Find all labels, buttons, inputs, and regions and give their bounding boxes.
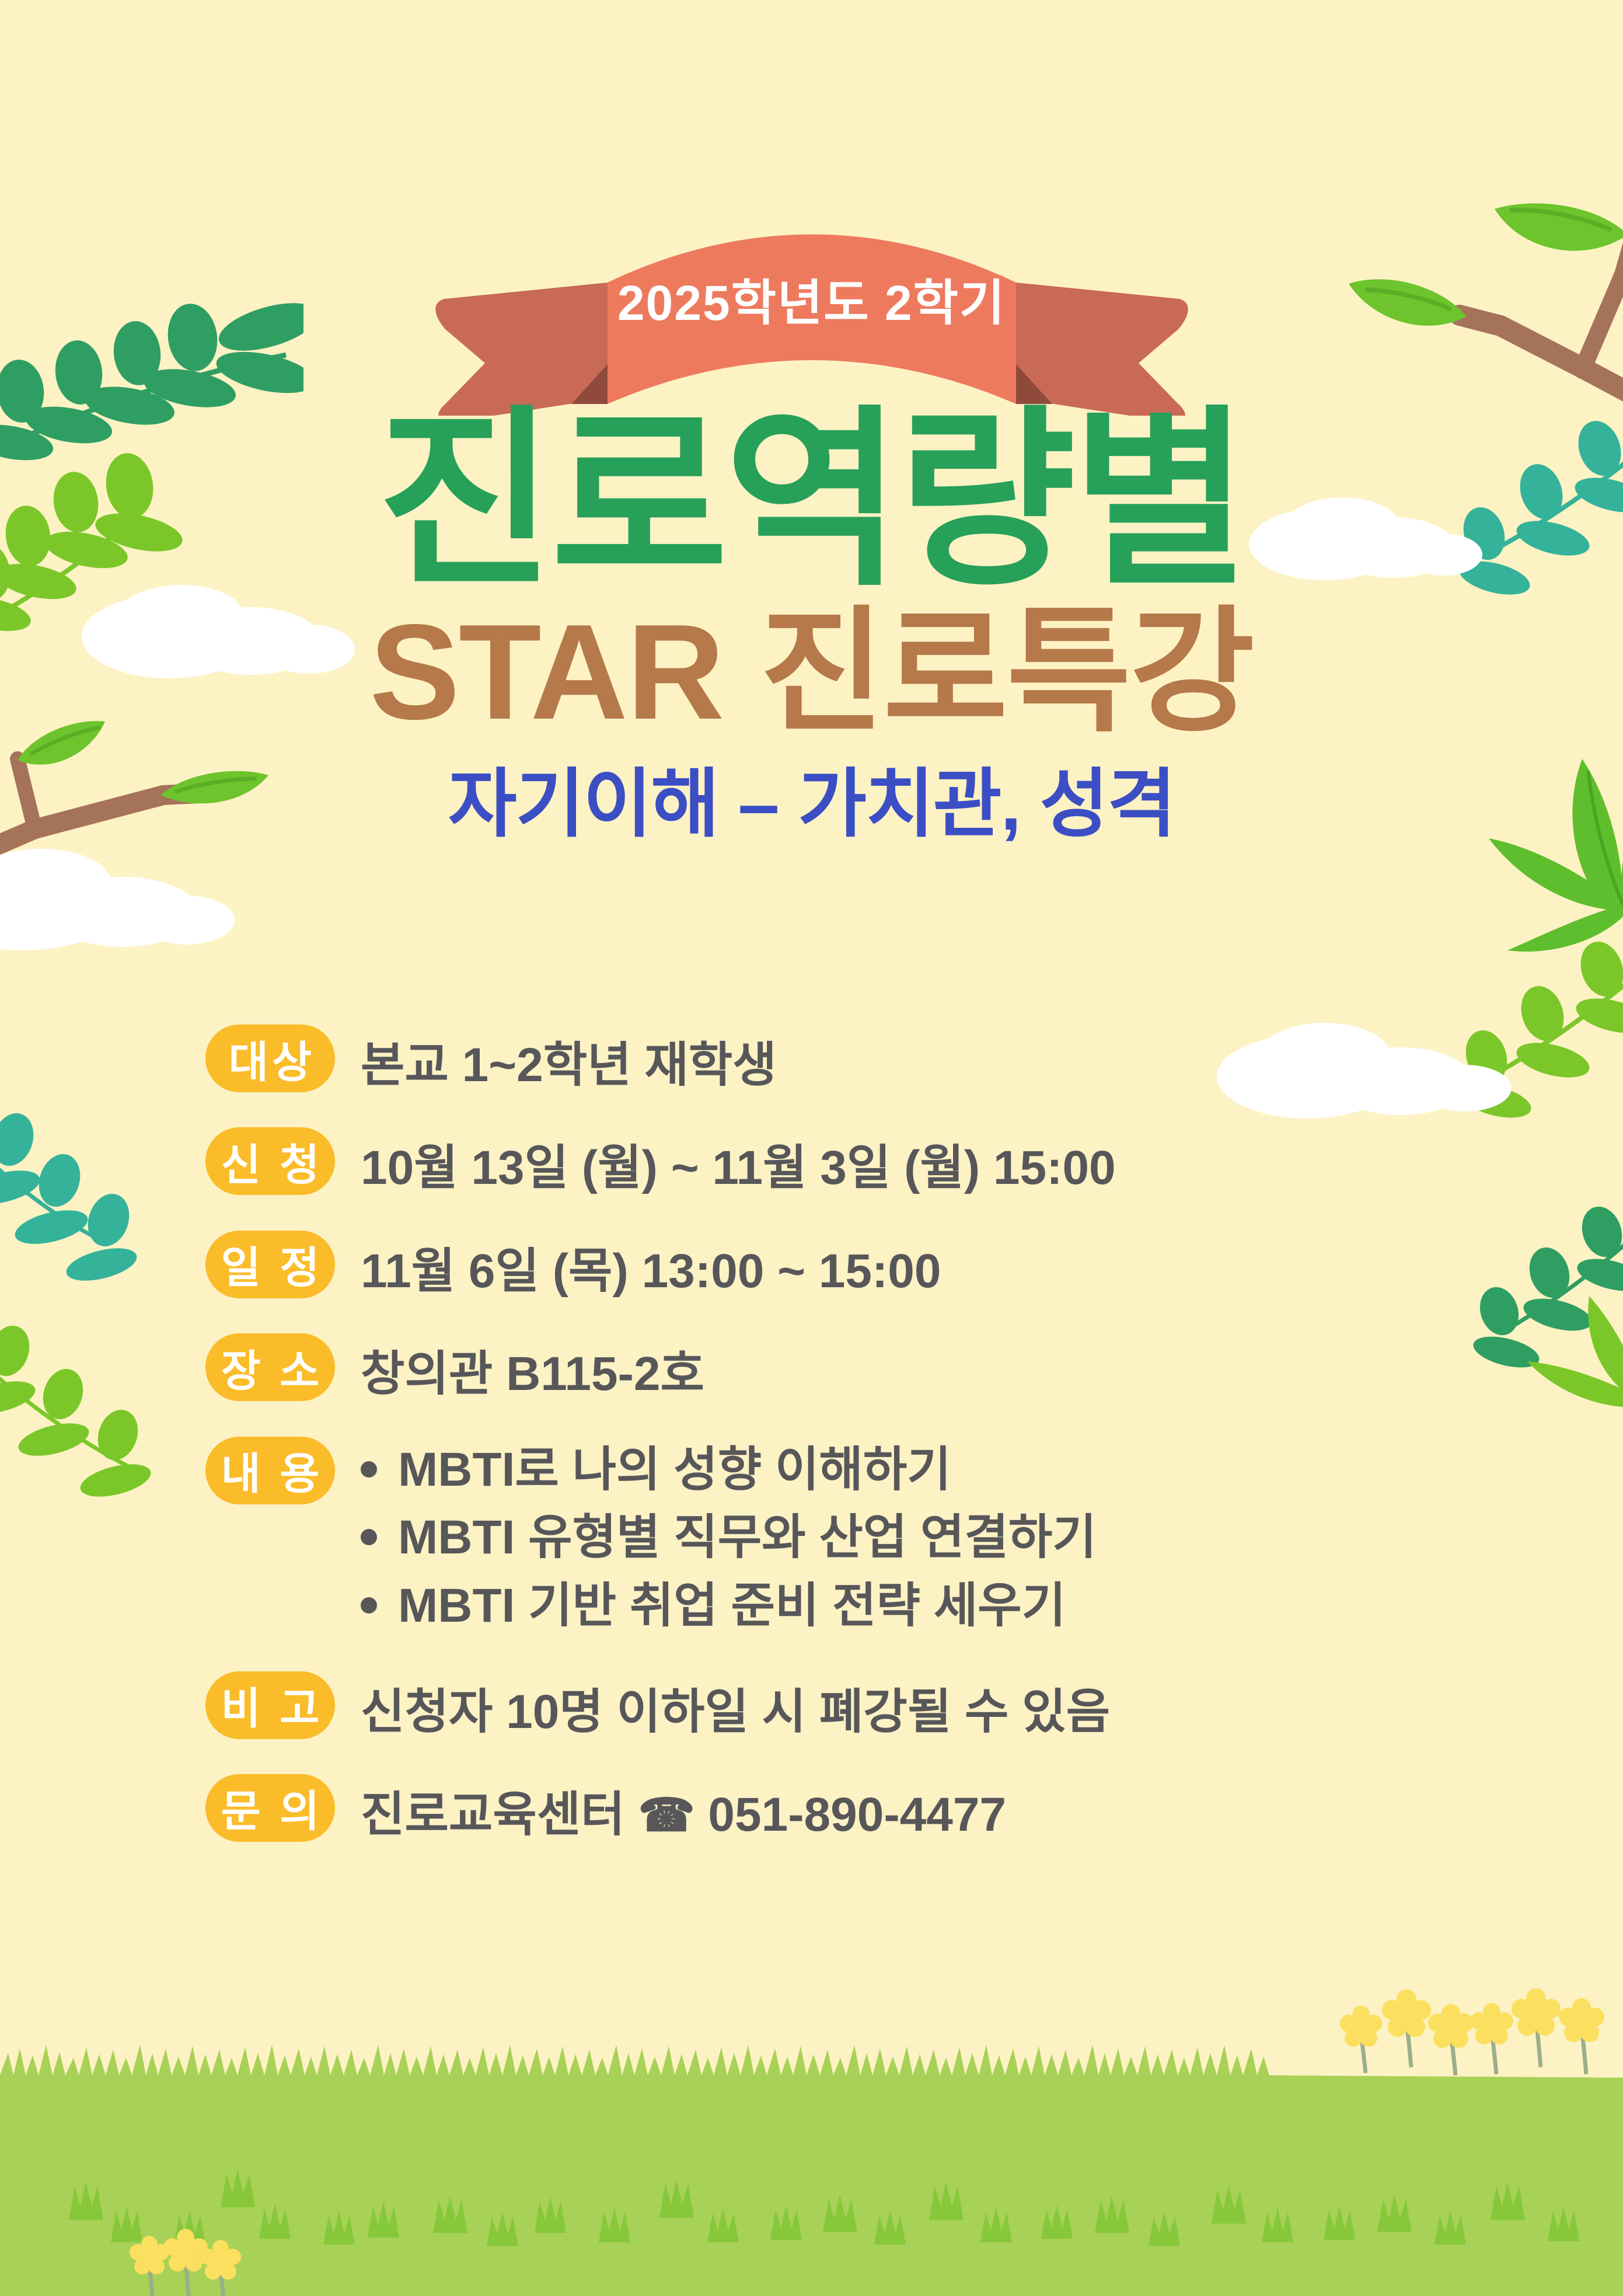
ribbon-label: 2025학년도 2학기 bbox=[617, 264, 1006, 335]
bullet-text: MBTI 유형별 직무와 산업 연결하기 bbox=[398, 1507, 1097, 1569]
label-remarks: 비 고 bbox=[205, 1671, 335, 1739]
contact-phone-number: 051-890-4477 bbox=[708, 1788, 1006, 1841]
lawn-body bbox=[0, 2045, 1623, 2296]
info-row-content: 내 용 MBTI로 나의 성향 이해하기 MBTI 유형별 직무와 산업 연결하… bbox=[205, 1437, 1535, 1643]
cloud-left-lower-icon bbox=[0, 835, 257, 963]
left-fern-teal-icon bbox=[0, 1092, 204, 1302]
title-line-3: 자기이해 – 가치관, 성격 bbox=[0, 767, 1623, 842]
info-row-application: 신 청 10월 13일 (월) ~ 11월 3일 (월) 15:00 bbox=[205, 1127, 1535, 1202]
title-line-2: STAR 진로특강 bbox=[0, 605, 1623, 740]
bullet-text: MBTI로 나의 성향 이해하기 bbox=[398, 1439, 951, 1501]
list-item: MBTI 유형별 직무와 산업 연결하기 bbox=[361, 1507, 1097, 1569]
grass-ground bbox=[0, 1946, 1623, 2296]
label-contact: 문 의 bbox=[205, 1774, 335, 1842]
value-application: 10월 13일 (월) ~ 11월 3일 (월) 15:00 bbox=[361, 1127, 1116, 1202]
contact-office: 진로교육센터 bbox=[361, 1788, 625, 1841]
value-remarks: 신청자 10명 이하일 시 폐강될 수 있음 bbox=[361, 1671, 1110, 1746]
flower-cluster-left bbox=[130, 2229, 241, 2296]
label-location: 장 소 bbox=[205, 1333, 335, 1401]
grass-tufts bbox=[69, 2169, 1579, 2246]
content-bullet-list: MBTI로 나의 성향 이해하기 MBTI 유형별 직무와 산업 연결하기 MB… bbox=[361, 1437, 1097, 1643]
info-table: 대상 본교 1~2학년 재학생 신 청 10월 13일 (월) ~ 11월 3일… bbox=[205, 1025, 1535, 1877]
value-target: 본교 1~2학년 재학생 bbox=[361, 1025, 777, 1099]
bullet-dot-icon bbox=[361, 1597, 377, 1614]
list-item: MBTI 기반 취업 준비 전략 세우기 bbox=[361, 1575, 1097, 1637]
telephone-icon: ☎ bbox=[638, 1789, 694, 1841]
value-schedule: 11월 6일 (목) 13:00 ~ 15:00 bbox=[361, 1231, 941, 1305]
info-row-schedule: 일 정 11월 6일 (목) 13:00 ~ 15:00 bbox=[205, 1231, 1535, 1305]
bullet-dot-icon bbox=[361, 1461, 377, 1478]
bullet-dot-icon bbox=[361, 1529, 377, 1545]
list-item: MBTI로 나의 성향 이해하기 bbox=[361, 1439, 1097, 1501]
title-line-1: 진로역량별 bbox=[0, 409, 1623, 592]
info-row-target: 대상 본교 1~2학년 재학생 bbox=[205, 1025, 1535, 1099]
label-target: 대상 bbox=[205, 1025, 335, 1092]
bullet-text: MBTI 기반 취업 준비 전략 세우기 bbox=[398, 1575, 1066, 1637]
flower-cluster-right bbox=[1340, 1988, 1604, 2075]
title-block: 진로역량별 STAR 진로특강 자기이해 – 가치관, 성격 bbox=[0, 409, 1623, 842]
value-location: 창의관 B115-2호 bbox=[361, 1333, 704, 1408]
label-application: 신 청 bbox=[205, 1127, 335, 1195]
label-content: 내 용 bbox=[205, 1437, 335, 1504]
info-row-contact: 문 의 진로교육센터 ☎ 051-890-4477 bbox=[205, 1774, 1535, 1849]
info-row-location: 장 소 창의관 B115-2호 bbox=[205, 1333, 1535, 1408]
info-row-remarks: 비 고 신청자 10명 이하일 시 폐강될 수 있음 bbox=[205, 1671, 1535, 1746]
poster-canvas: 2025학년도 2학기 진로역량별 STAR 진로특강 자기이해 – 가치관, … bbox=[0, 0, 1623, 2296]
left-fern-lime-icon bbox=[0, 1308, 222, 1518]
value-contact: 진로교육센터 ☎ 051-890-4477 bbox=[361, 1774, 1006, 1849]
label-schedule: 일 정 bbox=[205, 1231, 335, 1298]
